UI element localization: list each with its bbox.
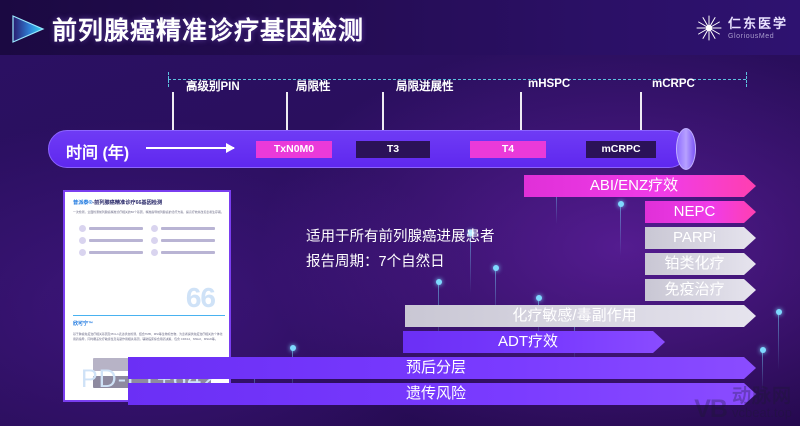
report-gene-item xyxy=(151,237,215,244)
stage-tick-1 xyxy=(286,92,288,132)
starburst-icon xyxy=(696,15,722,41)
gene-bullet-icon xyxy=(151,249,158,256)
report-gene-item xyxy=(151,249,215,256)
gene-bullet-icon xyxy=(151,237,158,244)
watermark-name-en: vcbeat.top xyxy=(732,406,792,420)
report-section2-body: 基于肿瘤免疫治疗相关基因及PD-L1表达状态检测，结合TMB、MSI等生物标志物… xyxy=(73,332,225,341)
site-watermark: VB 动脉网 vcbeat.top xyxy=(694,387,792,420)
stage-dash-cap-left xyxy=(168,72,169,87)
report-gene-item xyxy=(79,237,143,244)
report-gene-item xyxy=(151,225,215,232)
report-title-rest: -前列腺癌精准诊疗66基因检测 xyxy=(92,200,162,206)
stage-tick-2 xyxy=(382,92,384,132)
report-gene-item xyxy=(79,249,143,256)
stage-label-3: mHSPC xyxy=(528,78,570,90)
center-note: 适用于所有前列腺癌进展患者 报告周期：7个自然日 xyxy=(306,225,495,276)
arrow-bar-0[interactable]: ABI/ENZ疗效 xyxy=(524,175,756,197)
report-brand: 普派泰® xyxy=(73,200,92,206)
arrow-bar-6[interactable]: ADT疗效 xyxy=(403,331,665,353)
center-note-line1: 适用于所有前列腺癌进展患者 xyxy=(306,225,495,250)
right-arrow-icon xyxy=(146,147,234,149)
arrow-bar-8[interactable]: 遗传风险 xyxy=(128,383,756,405)
page-title: 前列腺癌精准诊疗基因检测 xyxy=(52,11,364,47)
gene-bullet-icon xyxy=(79,249,86,256)
brand-logo: 仁东医学 GloriousMed xyxy=(696,12,788,44)
report-gene-grid xyxy=(79,225,221,256)
gene-item-text xyxy=(161,251,215,254)
gene-bullet-icon xyxy=(79,237,86,244)
decorative-pin xyxy=(762,350,763,390)
arrow-bar-1[interactable]: NEPC xyxy=(645,201,756,223)
decorative-pin xyxy=(778,312,779,370)
center-note-line2: 报告周期：7个自然日 xyxy=(306,250,495,275)
report-subtitle: 一次检测，全面检测前列腺癌精准诊疗相关的66个基因，精准指导前列腺癌的诊疗方案，… xyxy=(73,210,225,214)
arrow-bar-2[interactable]: PARPi xyxy=(645,227,756,249)
arrow-bar-5[interactable]: 化疗敏感/毒副作用 xyxy=(405,305,756,327)
gene-bullet-icon xyxy=(151,225,158,232)
timeline-axis-label: 时间 (年) xyxy=(66,139,129,163)
gene-item-text xyxy=(89,227,143,230)
gene-item-text xyxy=(89,251,143,254)
stage-tick-4 xyxy=(640,92,642,132)
arrow-bar-3[interactable]: 铂类化疗 xyxy=(645,253,756,275)
report-section2-title: 欣可宁™ xyxy=(73,320,93,327)
timeline-end-cap xyxy=(676,128,696,170)
stage-label-0: 高级别PIN xyxy=(186,78,240,94)
gene-item-text xyxy=(161,239,215,242)
stage-label-1: 局限性 xyxy=(296,78,331,94)
slide-header: 前列腺癌精准诊疗基因检测 仁东医学 GloriousMed xyxy=(0,0,800,55)
timeline-chip-txn0m0[interactable]: TxN0M0 xyxy=(256,141,332,158)
logo-name-cn: 仁东医学 xyxy=(728,17,788,30)
report-card-title: 普派泰®-前列腺癌精准诊疗66基因检测 xyxy=(73,199,162,206)
report-gene-item xyxy=(79,225,143,232)
timeline-chip-mcrpc[interactable]: mCRPC xyxy=(586,141,656,158)
stage-tick-3 xyxy=(520,92,522,132)
logo-name-en: GloriousMed xyxy=(728,33,788,40)
play-triangle-icon xyxy=(10,14,46,44)
arrow-bar-7[interactable]: 预后分层 xyxy=(128,357,756,379)
timeline-chip-t3[interactable]: T3 xyxy=(356,141,430,158)
decorative-pin xyxy=(620,204,621,256)
report-gene-count: 66 xyxy=(186,282,215,314)
gene-item-text xyxy=(161,227,215,230)
gene-bullet-icon xyxy=(79,225,86,232)
stage-label-4: mCRPC xyxy=(652,78,695,90)
stage-dash-cap-right xyxy=(746,72,747,87)
arrow-bar-4[interactable]: 免疫治疗 xyxy=(645,279,756,301)
watermark-mark: VB xyxy=(694,398,727,421)
stage-tick-0 xyxy=(172,92,174,132)
gene-item-text xyxy=(89,239,143,242)
report-divider xyxy=(73,315,225,316)
watermark-name-cn: 动脉网 xyxy=(732,387,792,406)
timeline-chip-t4[interactable]: T4 xyxy=(470,141,546,158)
stage-label-2: 局限进展性 xyxy=(396,78,454,94)
slide-canvas: 前列腺癌精准诊疗基因检测 仁东医学 GloriousMed 高级别P xyxy=(0,0,800,426)
